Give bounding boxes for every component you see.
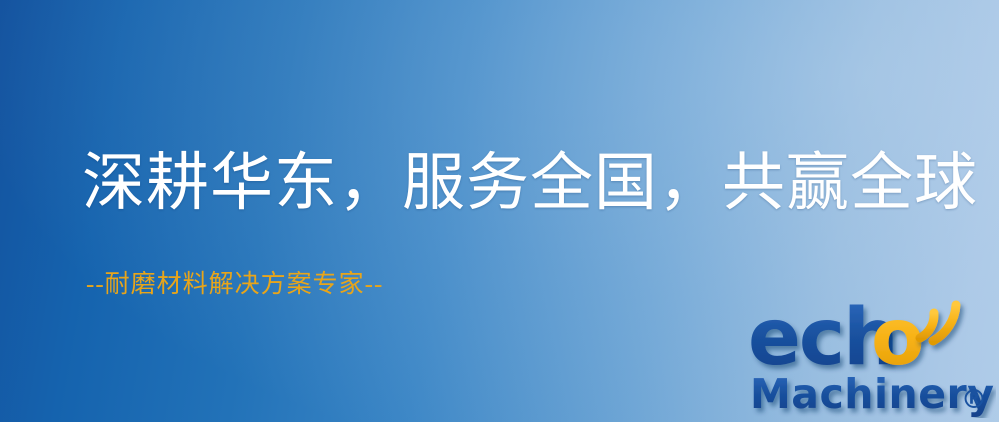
hero-banner: 深耕华东，服务全国，共赢全球 --耐磨材料解决方案专家-- bbox=[0, 0, 999, 422]
logo-tagline: Machinery bbox=[750, 370, 994, 418]
signal-arcs-icon bbox=[920, 305, 956, 341]
banner-headline: 深耕华东，服务全国，共赢全球 bbox=[82, 146, 978, 220]
banner-subtitle: --耐磨材料解决方案专家-- bbox=[86, 264, 383, 300]
registered-trademark-icon: ® bbox=[961, 385, 987, 415]
echo-machinery-logo: ech o Machinery ® bbox=[748, 300, 996, 418]
